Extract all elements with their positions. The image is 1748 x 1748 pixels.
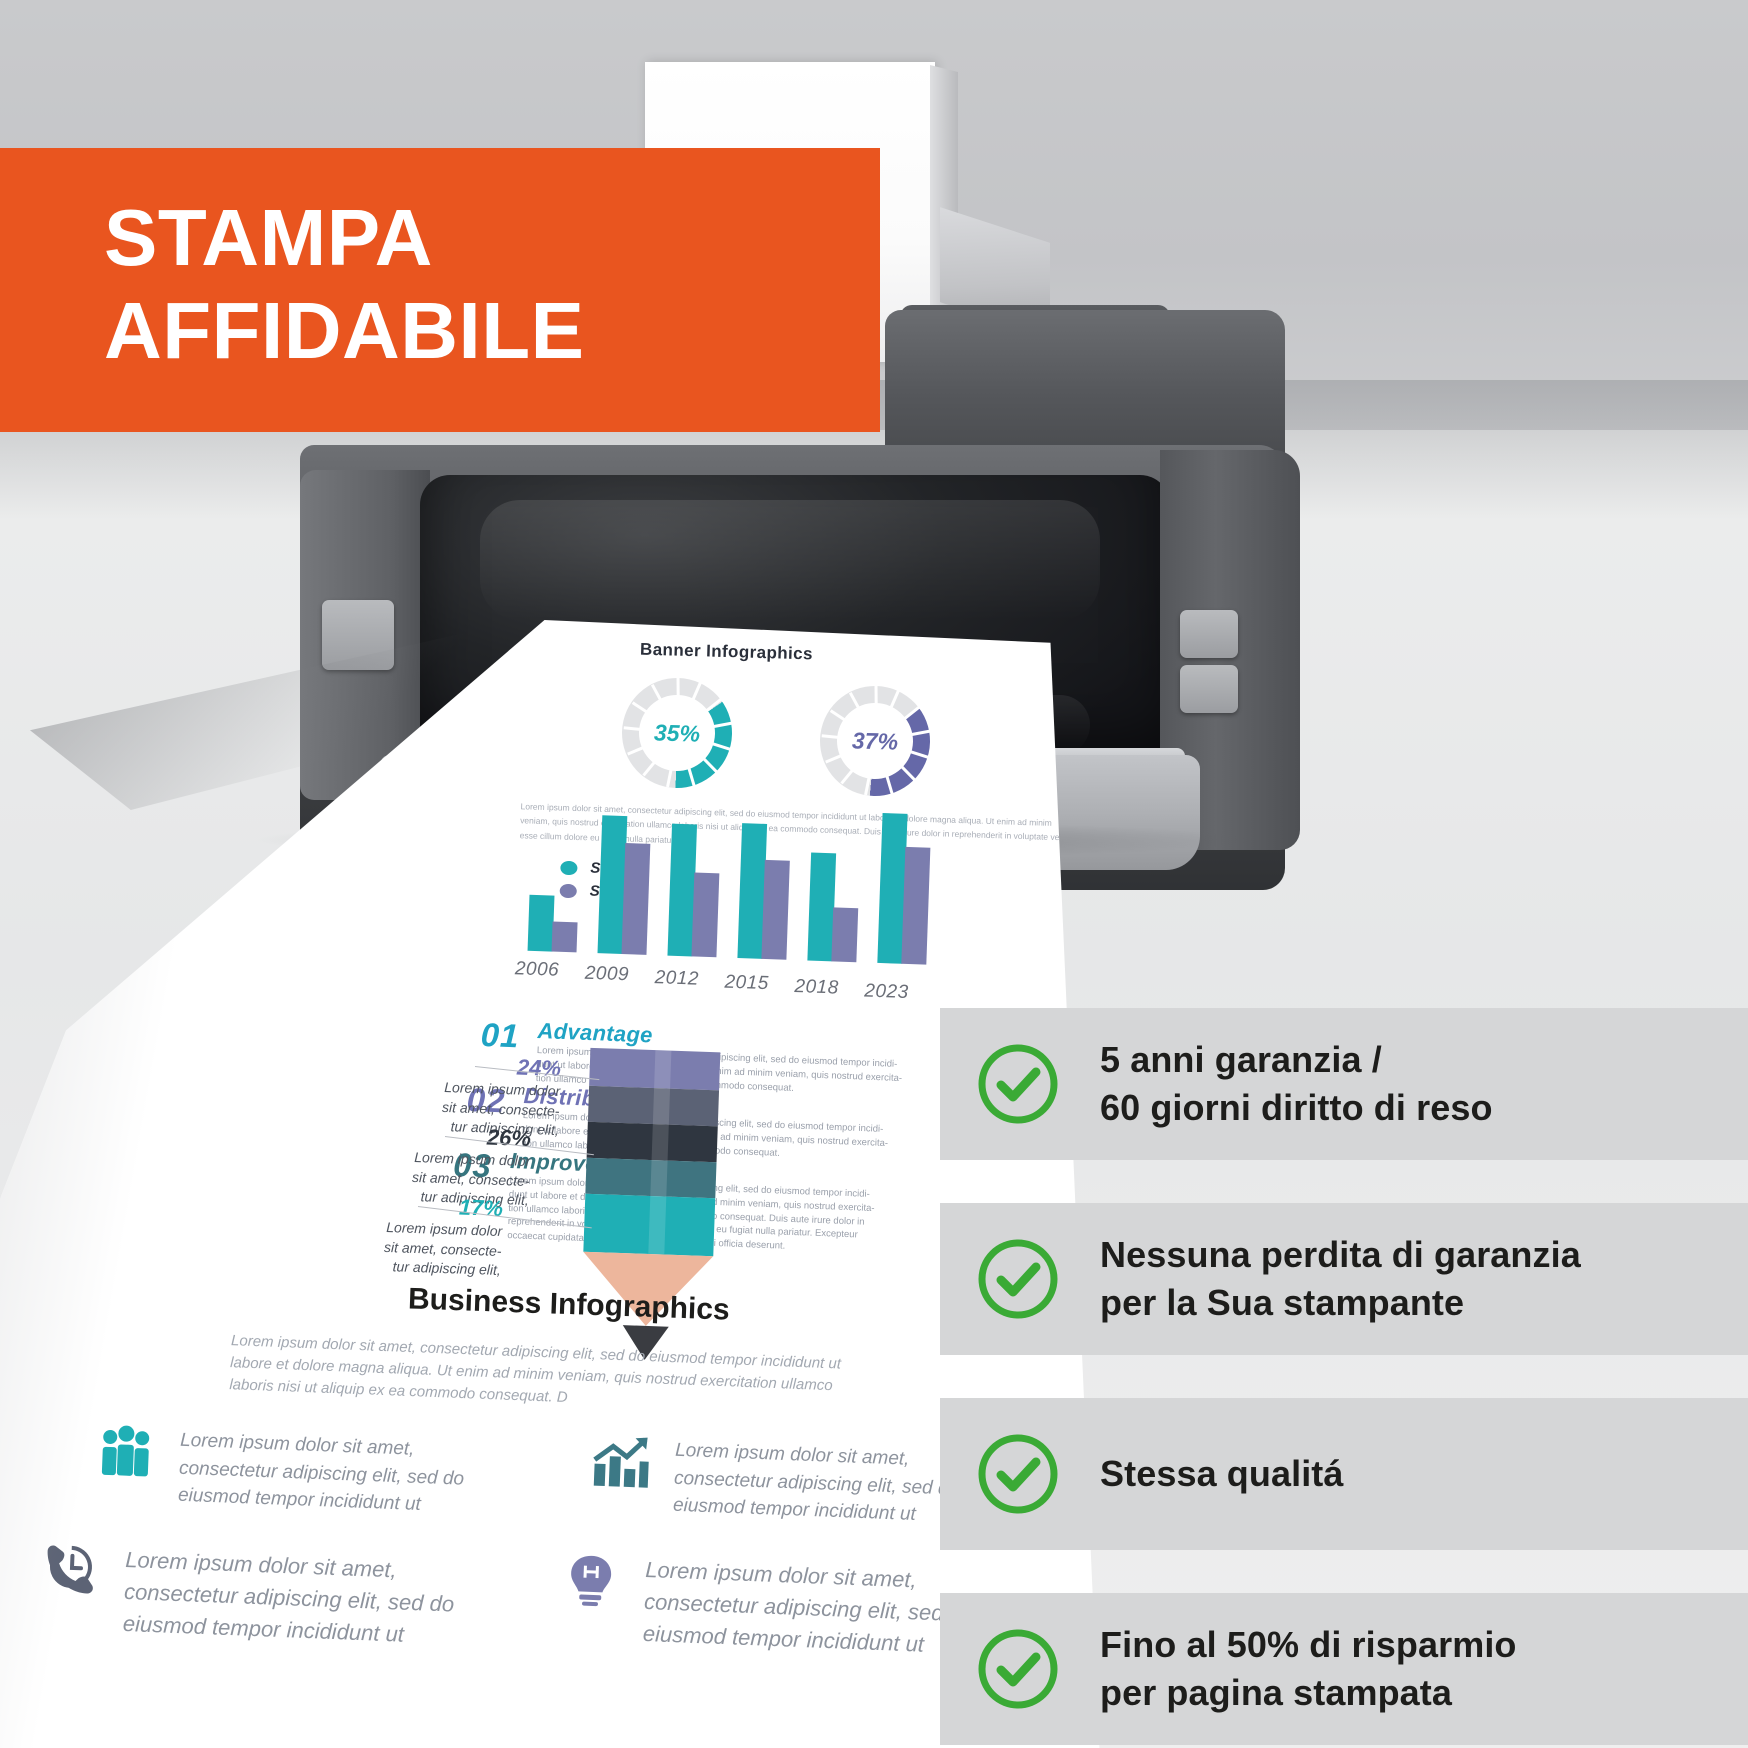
benefit-card-no-warranty-loss[interactable]: Nessuna perdita di garanzia per la Sua s…: [940, 1203, 1748, 1355]
benefit-card-warranty-text: 5 anni garanzia / 60 giorni diritto di r…: [1100, 1036, 1493, 1131]
benefit-card-same-quality-text: Stessa qualitá: [1100, 1450, 1344, 1498]
check-circle-icon: [976, 1627, 1060, 1711]
poster-canvas: Banner Infographics 35%: [0, 0, 1748, 1748]
benefit-card-no-warranty-loss-text: Nessuna perdita di garanzia per la Sua s…: [1100, 1231, 1581, 1326]
check-circle-icon: [976, 1237, 1060, 1321]
benefit-card-warranty[interactable]: 5 anni garanzia / 60 giorni diritto di r…: [940, 1008, 1748, 1160]
benefit-card-savings[interactable]: Fino al 50% di risparmio per pagina stam…: [940, 1593, 1748, 1745]
benefit-card-same-quality[interactable]: Stessa qualitá: [940, 1398, 1748, 1550]
benefit-card-savings-text: Fino al 50% di risparmio per pagina stam…: [1100, 1621, 1517, 1716]
page-title: STAMPA AFFIDABILE: [0, 148, 880, 378]
benefits-list: 5 anni garanzia / 60 giorni diritto di r…: [940, 0, 1748, 1748]
headline-banner: STAMPA AFFIDABILE: [0, 148, 880, 432]
check-circle-icon: [976, 1432, 1060, 1516]
check-circle-icon: [976, 1042, 1060, 1126]
